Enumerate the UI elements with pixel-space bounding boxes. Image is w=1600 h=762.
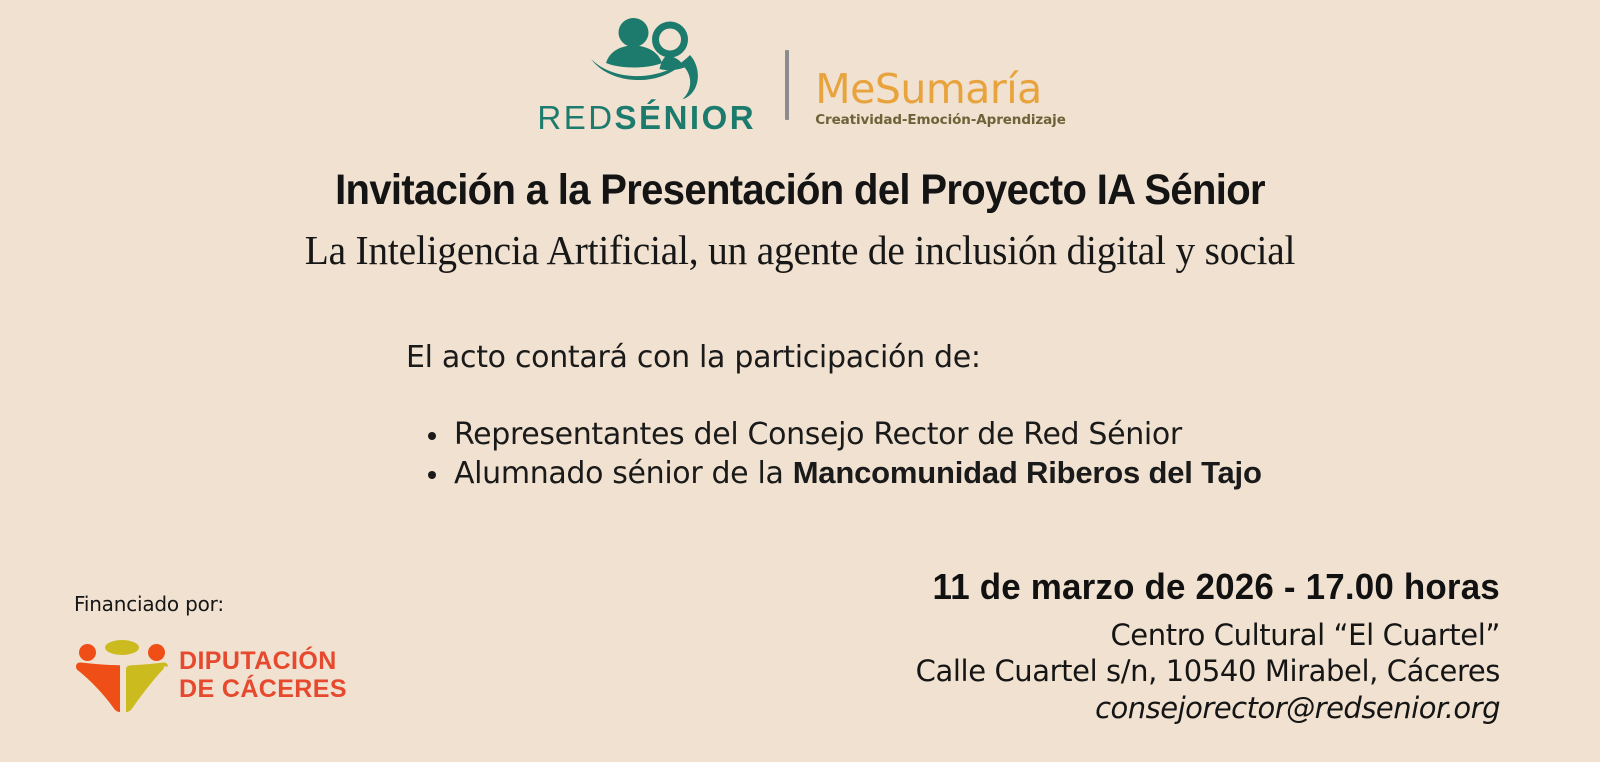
diputacion-caceres-wordmark: DIPUTACIÓN DE CÁCERES: [179, 647, 347, 703]
red-senior-word-bold: SÉNIOR: [615, 99, 757, 136]
diputacion-line-1: DIPUTACIÓN: [179, 647, 347, 675]
red-senior-word-light: RED: [537, 99, 614, 136]
logo-lockup: REDSÉNIOR MeSumaría Creatividad-Emoción-…: [0, 6, 1600, 134]
invitation-poster: REDSÉNIOR MeSumaría Creatividad-Emoción-…: [0, 0, 1600, 762]
logo-divider: [785, 50, 789, 120]
event-address: Calle Cuartel s/n, 10540 Mirabel, Cácere…: [915, 653, 1500, 689]
red-senior-figures-icon: [588, 17, 706, 99]
diputacion-caceres-logo: DIPUTACIÓN DE CÁCERES: [74, 638, 347, 712]
event-venue: Centro Cultural “El Cuartel”: [915, 617, 1500, 653]
event-details: 11 de marzo de 2026 - 17.00 horas Centro…: [915, 566, 1500, 727]
list-item: Representantes del Consejo Rector de Red…: [414, 415, 1262, 454]
contact-email[interactable]: consejorector@redsenior.org: [915, 689, 1500, 727]
mesumaria-tagline: Creatividad-Emoción-Aprendizaje: [815, 112, 1066, 128]
mesumaria-logo: MeSumaría Creatividad-Emoción-Aprendizaj…: [815, 69, 1066, 134]
list-item-emphasis: Mancomunidad Riberos del Tajo: [793, 455, 1262, 490]
list-item-text: Alumnado sénior de la: [454, 456, 793, 491]
funder-section: Financiado por: DIPUTACIÓN DE CÁCERES: [74, 592, 347, 712]
diputacion-line-2: DE CÁCERES: [179, 675, 347, 703]
participation-lead: El acto contará con la participación de:: [406, 340, 981, 375]
list-item: Alumnado sénior de la Mancomunidad Riber…: [414, 454, 1262, 493]
mesumaria-wordmark: MeSumaría: [815, 69, 1042, 111]
participants-list: Representantes del Consejo Rector de Red…: [414, 415, 1262, 493]
diputacion-caceres-figure-icon: [74, 638, 170, 712]
funder-label: Financiado por:: [74, 592, 347, 616]
page-title: Invitación a la Presentación del Proyect…: [56, 166, 1544, 215]
list-item-text: Representantes del Consejo Rector de Red…: [454, 417, 1182, 452]
page-subtitle: La Inteligencia Artificial, un agente de…: [32, 226, 1568, 274]
red-senior-logo: REDSÉNIOR: [534, 17, 759, 134]
red-senior-wordmark: REDSÉNIOR: [537, 101, 756, 134]
event-date-time: 11 de marzo de 2026 - 17.00 horas: [933, 566, 1500, 608]
